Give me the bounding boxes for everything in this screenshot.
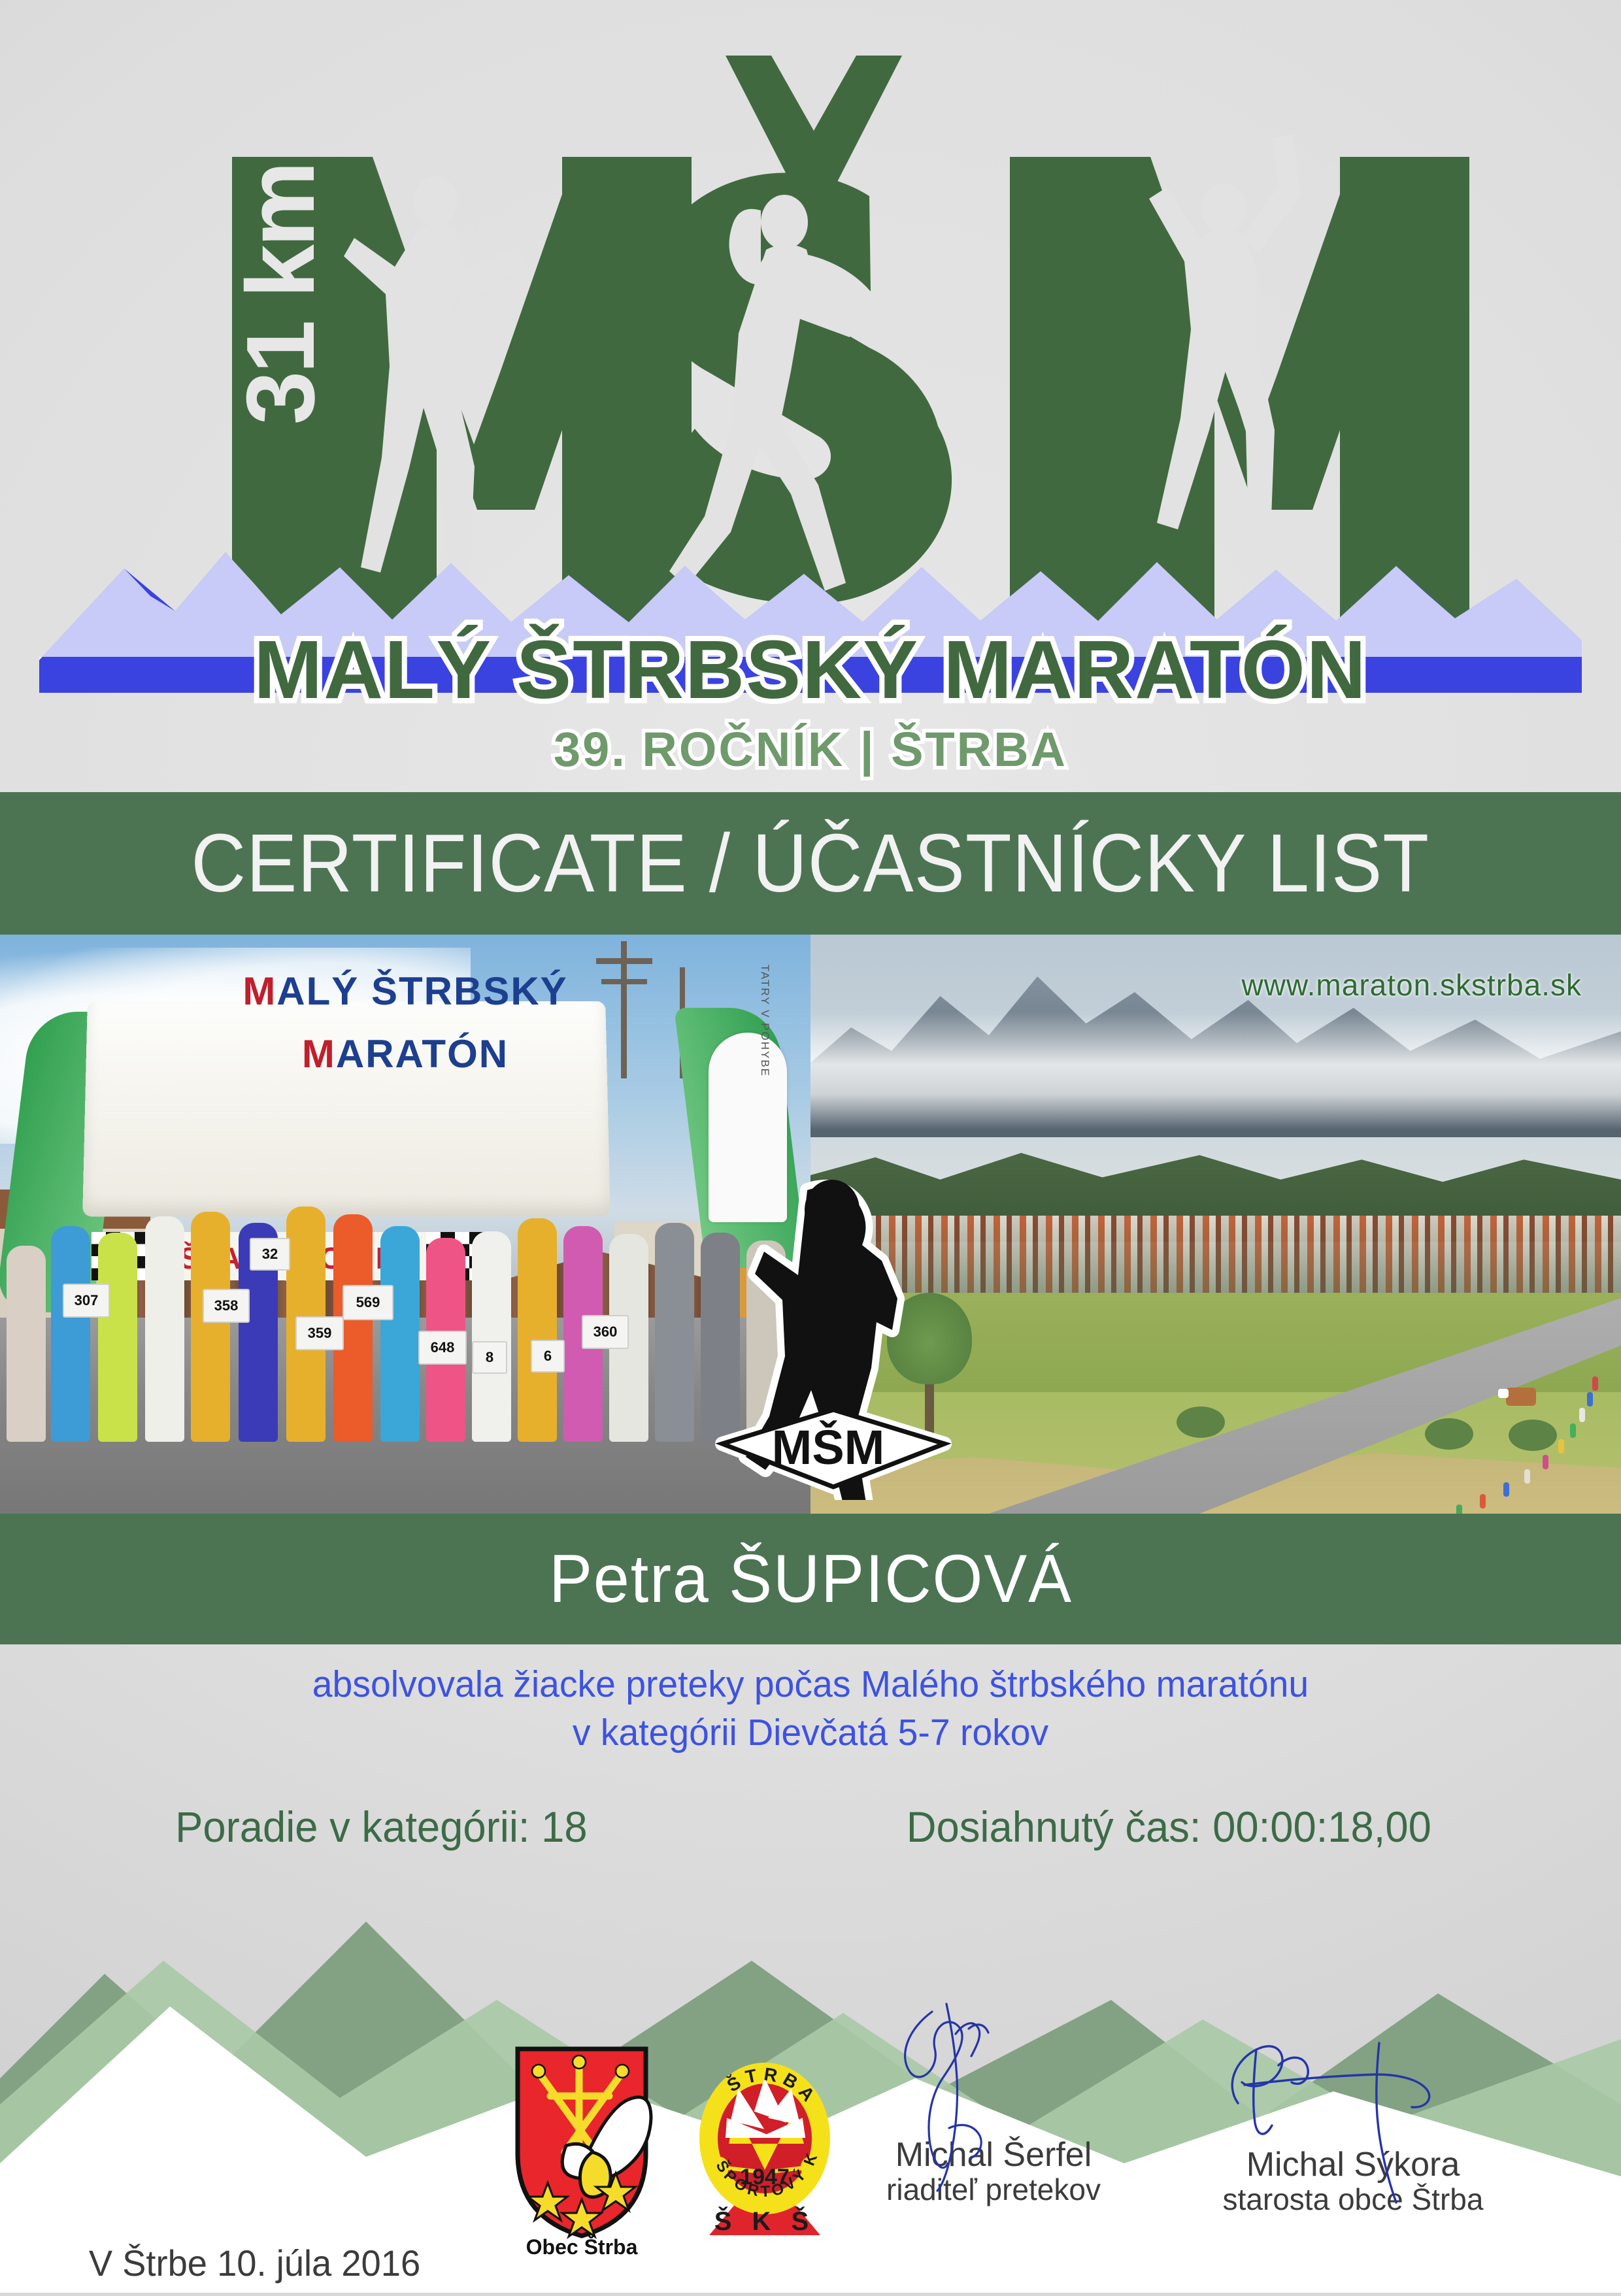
msm-runner-sticker-icon: MŠM <box>709 1167 958 1500</box>
certificate-page: 31 km 10 km <box>0 0 1621 2293</box>
event-logo-header: 31 km 10 km <box>0 0 1621 788</box>
sks-club-crest-icon: 1947 ŠTRBA ŠPORTOVÝ KLUB Š K Š <box>690 2039 840 2255</box>
category-rank: Poradie v kategórii: 18 <box>175 1802 587 1852</box>
description-line-2: v kategórii Dievčatá 5-7 rokov <box>24 1708 1597 1757</box>
signature-ink-sykora-icon <box>1216 2020 1464 2209</box>
runner-bib: 6 <box>531 1340 565 1373</box>
sks-crest-base-text: Š K Š <box>714 2206 815 2236</box>
arch-banner-line1: MALÝ ŠTRBSKÝ <box>0 969 811 1014</box>
finish-time: Dosiahnutý čas: 00:00:18,00 <box>907 1802 1431 1852</box>
signature-ink-serfel-icon <box>869 2000 1065 2196</box>
participant-name: Petra ŠUPICOVÁ <box>549 1545 1073 1613</box>
certificate-title: CERTIFICATE / ÚČASTNÍCKY LIST <box>192 822 1430 905</box>
event-edition-svg-text: 39. ROČNÍK | ŠTRBA <box>554 722 1067 777</box>
arch-line2-rest: ARATÓN <box>336 1032 509 1076</box>
arch-line2-initial: M <box>302 1032 336 1076</box>
arch-line1-rest: ALÝ ŠTRBSKÝ <box>276 969 567 1013</box>
runner-bib: 307 <box>63 1284 110 1318</box>
runner-bib: 648 <box>418 1331 467 1365</box>
msm-logo-graphic: 31 km 10 km <box>0 0 1621 788</box>
cloud-band <box>811 1012 1621 1129</box>
arch-banner-line2: MARATÓN <box>0 1031 811 1076</box>
certificate-title-banner: CERTIFICATE / ÚČASTNÍCKY LIST <box>0 792 1621 935</box>
runner-bib: 32 <box>250 1238 290 1271</box>
runner-bib: 358 <box>203 1289 250 1323</box>
site-url[interactable]: www.maraton.skstrba.sk <box>1242 967 1582 1003</box>
finish-time-label: Dosiahnutý čas: <box>907 1803 1201 1851</box>
issue-date: V Štrbe 10. júla 2016 <box>89 2242 420 2284</box>
runner-bib: 569 <box>343 1285 393 1320</box>
obec-crest-caption: Obec Štrba <box>526 2235 638 2258</box>
obec-strba-crest-icon: Obec Štrba <box>510 2042 654 2258</box>
category-rank-label: Poradie v kategórii: <box>175 1803 529 1851</box>
runner-bib: 8 <box>472 1341 507 1374</box>
photo-start-line: MALÝ ŠTRBSKÝ MARATÓN ŠTART - CIEĽ TATRY … <box>0 935 811 1514</box>
arch-line1-initial: M <box>242 969 276 1013</box>
sponsor-flag-text: TATRY V POHYBE <box>758 965 771 1077</box>
participant-name-banner: Petra ŠUPICOVÁ <box>0 1514 1621 1644</box>
event-title-svg-text: MALÝ ŠTRBSKÝ MARATÓN <box>254 624 1367 716</box>
bush <box>1509 1420 1557 1451</box>
description-line-1: absolvovala žiacke preteky počas Malého … <box>24 1660 1597 1708</box>
svg-text:31 km: 31 km <box>227 163 335 425</box>
runner-bib: 359 <box>295 1316 344 1350</box>
bush <box>1425 1418 1473 1450</box>
results-row: Poradie v kategórii: 18 Dosiahnutý čas: … <box>0 1791 1621 1863</box>
runner-bib: 360 <box>582 1315 629 1349</box>
finish-time-value: 00:00:18,00 <box>1212 1803 1431 1851</box>
msm-sticker-label: MŠM <box>772 1420 885 1474</box>
cow <box>1506 1388 1536 1406</box>
category-rank-value: 18 <box>541 1803 587 1851</box>
participation-description: absolvovala žiacke preteky počas Malého … <box>24 1660 1597 1757</box>
bush <box>1177 1406 1225 1438</box>
runner-crowd <box>0 1167 811 1442</box>
